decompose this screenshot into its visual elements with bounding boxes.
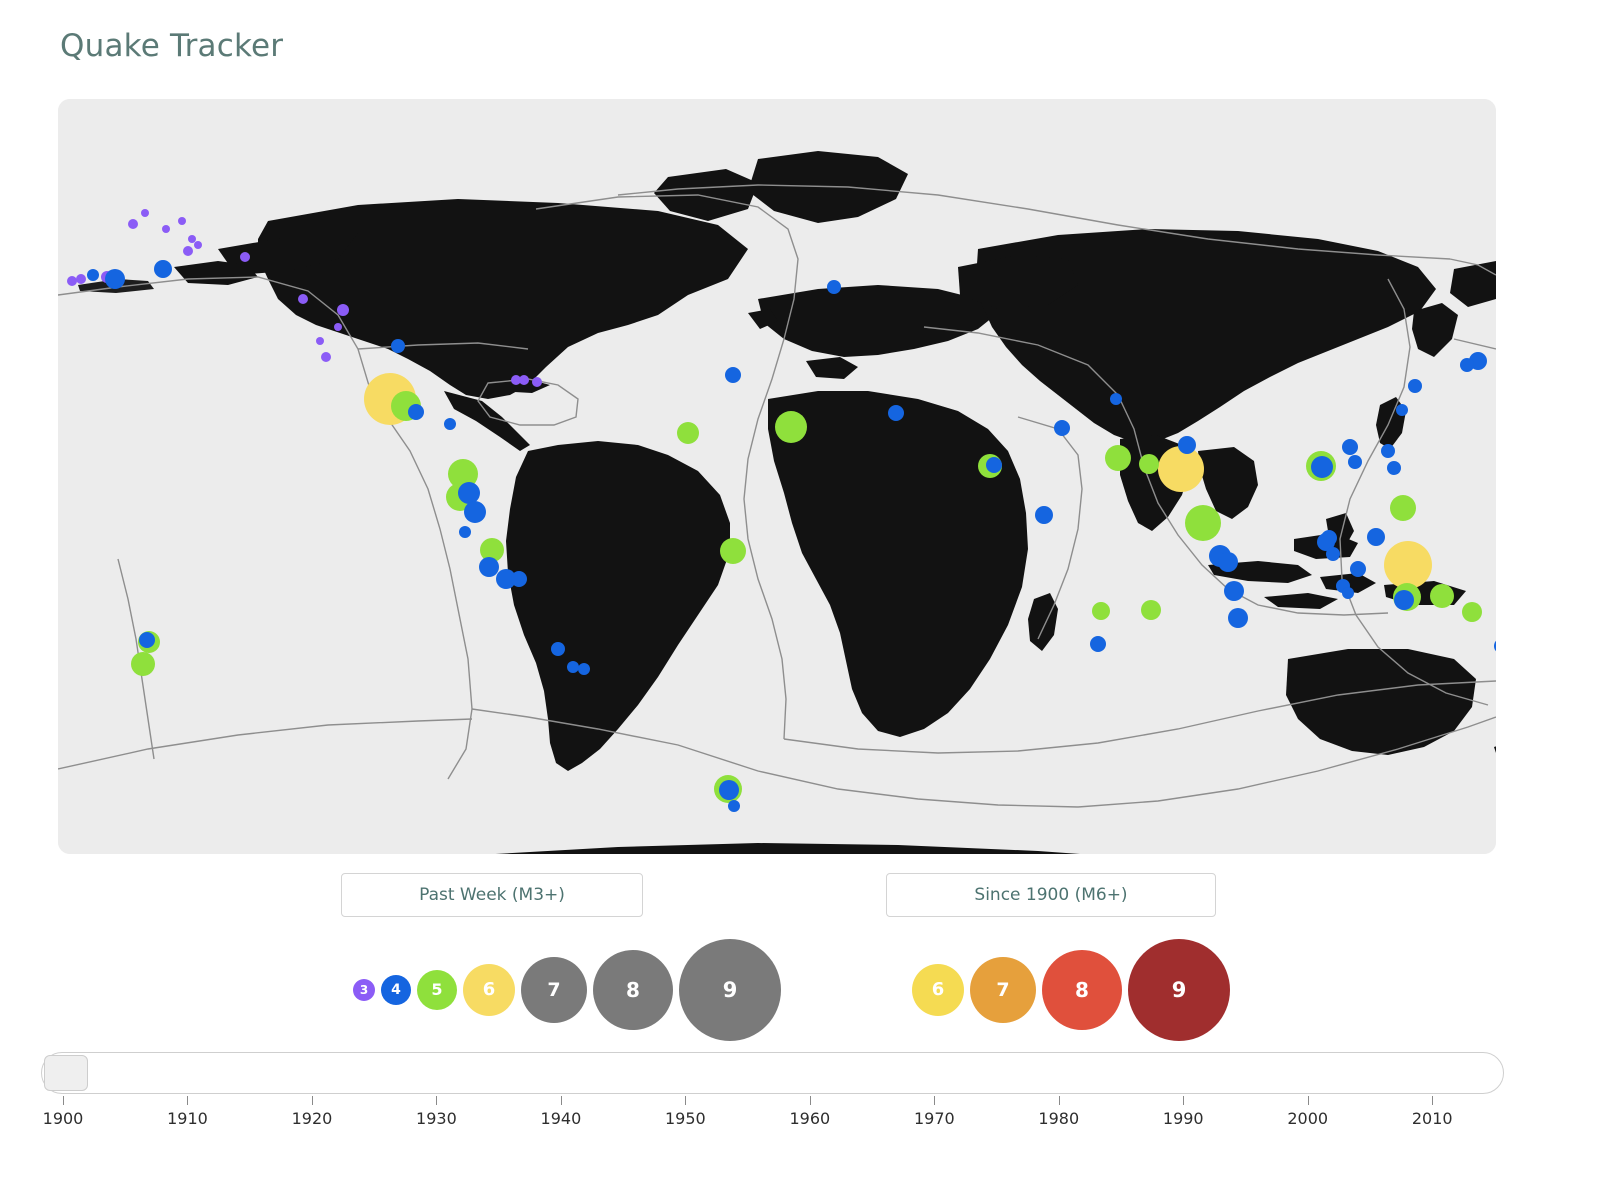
earthquake-dot-layer	[58, 99, 1496, 854]
legend-bubble-m3[interactable]: 3	[353, 979, 375, 1001]
earthquake-dot[interactable]	[1460, 358, 1474, 372]
axis-label: 1980	[1038, 1109, 1079, 1128]
earthquake-dot[interactable]	[1311, 456, 1333, 478]
earthquake-dot[interactable]	[888, 405, 904, 421]
axis-tick	[312, 1096, 313, 1105]
earthquake-dot[interactable]	[162, 225, 170, 233]
axis-label: 1930	[416, 1109, 457, 1128]
legend-bubble-m5[interactable]: 5	[417, 970, 457, 1010]
legend-bubble-m6[interactable]: 6	[912, 964, 964, 1016]
since-1900-button[interactable]: Since 1900 (M6+)	[886, 873, 1216, 917]
earthquake-dot[interactable]	[1494, 638, 1496, 654]
earthquake-dot[interactable]	[1185, 505, 1221, 541]
earthquake-dot[interactable]	[337, 304, 349, 316]
earthquake-dot[interactable]	[1387, 461, 1401, 475]
earthquake-dot[interactable]	[827, 280, 841, 294]
earthquake-dot[interactable]	[1035, 506, 1053, 524]
earthquake-dot[interactable]	[178, 217, 186, 225]
earthquake-dot[interactable]	[1384, 541, 1432, 589]
quake-tracker-app: Quake Tracker	[0, 0, 1612, 1182]
axis-label: 2000	[1287, 1109, 1328, 1128]
earthquake-dot[interactable]	[1350, 561, 1366, 577]
legend-bubble-m8[interactable]: 8	[593, 950, 673, 1030]
legend-bubble-m7[interactable]: 7	[970, 957, 1036, 1023]
axis-label: 1990	[1163, 1109, 1204, 1128]
earthquake-dot[interactable]	[1394, 590, 1414, 610]
earthquake-dot[interactable]	[1218, 552, 1238, 572]
earthquake-dot[interactable]	[1178, 436, 1196, 454]
axis-label: 1940	[541, 1109, 582, 1128]
earthquake-dot[interactable]	[719, 780, 739, 800]
earthquake-dot[interactable]	[728, 800, 740, 812]
page-title: Quake Tracker	[60, 24, 283, 68]
axis-label: 1950	[665, 1109, 706, 1128]
legend-bubble-m9[interactable]: 9	[1128, 939, 1230, 1041]
timeline-axis: 1900191019201930194019501960197019801990…	[41, 1096, 1504, 1146]
earthquake-dot[interactable]	[87, 269, 99, 281]
earthquake-dot[interactable]	[1462, 602, 1482, 622]
earthquake-dot[interactable]	[194, 241, 202, 249]
earthquake-dot[interactable]	[1326, 547, 1340, 561]
earthquake-dot[interactable]	[725, 367, 741, 383]
axis-tick	[436, 1096, 437, 1105]
earthquake-dot[interactable]	[334, 323, 342, 331]
earthquake-dot[interactable]	[1158, 446, 1204, 492]
slider-track[interactable]	[41, 1052, 1504, 1094]
earthquake-dot[interactable]	[444, 418, 456, 430]
slider-handle[interactable]	[44, 1055, 88, 1091]
earthquake-dot[interactable]	[1430, 584, 1454, 608]
earthquake-dot[interactable]	[1342, 439, 1358, 455]
earthquake-dot[interactable]	[67, 276, 77, 286]
earthquake-dot[interactable]	[154, 260, 172, 278]
axis-tick	[63, 1096, 64, 1105]
axis-tick	[934, 1096, 935, 1105]
axis-tick	[1059, 1096, 1060, 1105]
earthquake-dot[interactable]	[1224, 581, 1244, 601]
earthquake-dot[interactable]	[1228, 608, 1248, 628]
earthquake-dot[interactable]	[459, 526, 471, 538]
earthquake-dot[interactable]	[720, 538, 746, 564]
since-1900-legend: 6789	[900, 930, 1220, 1050]
earthquake-dot[interactable]	[511, 571, 527, 587]
earthquake-dot[interactable]	[1092, 602, 1110, 620]
earthquake-dot[interactable]	[183, 246, 193, 256]
legend-bubble-m9[interactable]: 9	[679, 939, 781, 1041]
earthquake-dot[interactable]	[1367, 528, 1385, 546]
legend-bubble-m8[interactable]: 8	[1042, 950, 1122, 1030]
world-map-panel[interactable]	[58, 99, 1496, 854]
legend-bubble-m7[interactable]: 7	[521, 957, 587, 1023]
earthquake-dot[interactable]	[139, 632, 155, 648]
earthquake-dot[interactable]	[408, 404, 424, 420]
legend-bubble-m6[interactable]: 6	[463, 964, 515, 1016]
earthquake-dot[interactable]	[1139, 454, 1159, 474]
past-week-button[interactable]: Past Week (M3+)	[341, 873, 643, 917]
earthquake-dot[interactable]	[775, 411, 807, 443]
axis-tick	[685, 1096, 686, 1105]
axis-tick	[810, 1096, 811, 1105]
earthquake-dot[interactable]	[1342, 587, 1354, 599]
axis-label: 1910	[167, 1109, 208, 1128]
earthquake-dot[interactable]	[1090, 636, 1106, 652]
earthquake-dot[interactable]	[131, 652, 155, 676]
legend-bubble-m4[interactable]: 4	[381, 975, 411, 1005]
earthquake-dot[interactable]	[391, 339, 405, 353]
earthquake-dot[interactable]	[321, 352, 331, 362]
axis-tick	[1432, 1096, 1433, 1105]
earthquake-dot[interactable]	[1381, 444, 1395, 458]
earthquake-dot[interactable]	[551, 642, 565, 656]
earthquake-dot[interactable]	[105, 269, 125, 289]
earthquake-dot[interactable]	[986, 457, 1002, 473]
earthquake-dot[interactable]	[519, 375, 529, 385]
axis-tick	[1308, 1096, 1309, 1105]
axis-label: 1920	[292, 1109, 333, 1128]
timeline-slider[interactable]	[41, 1052, 1504, 1094]
earthquake-dot[interactable]	[1054, 420, 1070, 436]
earthquake-dot[interactable]	[1105, 445, 1131, 471]
past-week-legend: 3456789	[341, 930, 781, 1050]
earthquake-dot[interactable]	[128, 219, 138, 229]
earthquake-dot[interactable]	[1348, 455, 1362, 469]
earthquake-dot[interactable]	[677, 422, 699, 444]
axis-label: 1900	[43, 1109, 84, 1128]
earthquake-dot[interactable]	[76, 274, 86, 284]
axis-tick	[187, 1096, 188, 1105]
earthquake-dot[interactable]	[316, 337, 324, 345]
earthquake-dot[interactable]	[578, 663, 590, 675]
axis-tick	[1183, 1096, 1184, 1105]
earthquake-dot[interactable]	[464, 501, 486, 523]
earthquake-dot[interactable]	[240, 252, 250, 262]
earthquake-dot[interactable]	[1110, 393, 1122, 405]
earthquake-dot[interactable]	[141, 209, 149, 217]
axis-label: 1970	[914, 1109, 955, 1128]
earthquake-dot[interactable]	[1390, 495, 1416, 521]
earthquake-dot[interactable]	[1141, 600, 1161, 620]
earthquake-dot[interactable]	[532, 377, 542, 387]
earthquake-dot[interactable]	[1396, 404, 1408, 416]
axis-label: 2010	[1412, 1109, 1453, 1128]
axis-tick	[561, 1096, 562, 1105]
earthquake-dot[interactable]	[1408, 379, 1422, 393]
earthquake-dot[interactable]	[298, 294, 308, 304]
axis-label: 1960	[789, 1109, 830, 1128]
